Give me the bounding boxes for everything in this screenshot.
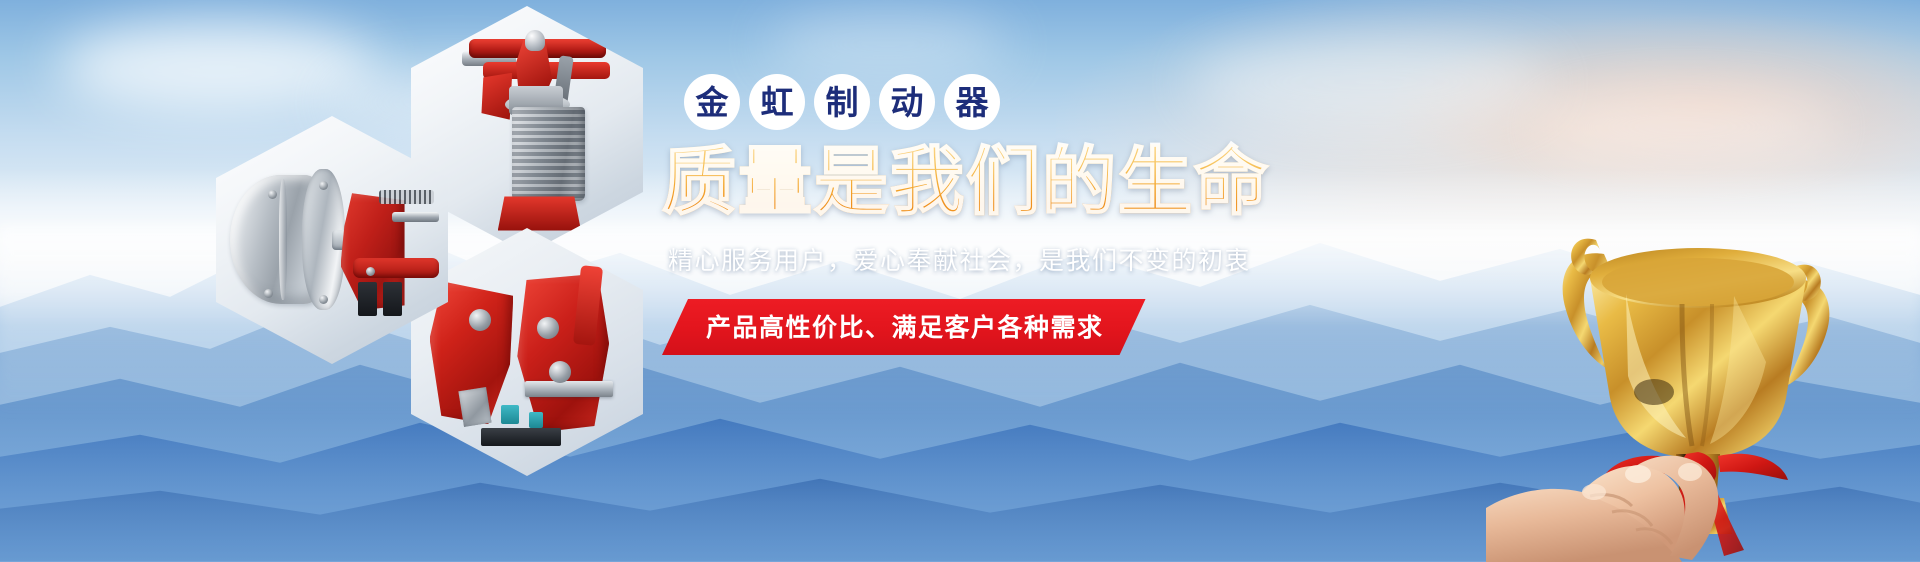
brand-char-bubble: 器: [944, 74, 1000, 130]
ribbon-tagline: 产品高性价比、满足客户各种需求: [662, 299, 1146, 355]
product-hexagon-cluster: [196, 0, 666, 562]
promo-banner: 金 虹 制 动 器 质量是我们的生命 精心服务用户，爱心奉献社会，是我们不变的初…: [0, 0, 1920, 562]
brand-char-bubble: 制: [814, 74, 870, 130]
cloud-puff: [768, 11, 1008, 77]
brand-name: 金 虹 制 动 器: [684, 74, 1302, 130]
trophy-illustration: [1486, 162, 1906, 562]
brand-char-bubble: 虹: [749, 74, 805, 130]
banner-text-block: 金 虹 制 动 器 质量是我们的生命 精心服务用户，爱心奉献社会，是我们不变的初…: [662, 74, 1302, 355]
brand-char-bubble: 动: [879, 74, 935, 130]
pneumatic-brake-photo: [225, 166, 438, 320]
headline-slogan: 质量是我们的生命: [662, 144, 1302, 221]
thruster-brake-photo: [443, 26, 624, 239]
brand-char-bubble: 金: [684, 74, 740, 130]
subtitle-slogan: 精心服务用户，爱心奉献社会，是我们不变的初衷: [668, 241, 1302, 277]
caliper-brake-photo: [430, 258, 630, 456]
cloud-puff: [1536, 90, 1836, 164]
